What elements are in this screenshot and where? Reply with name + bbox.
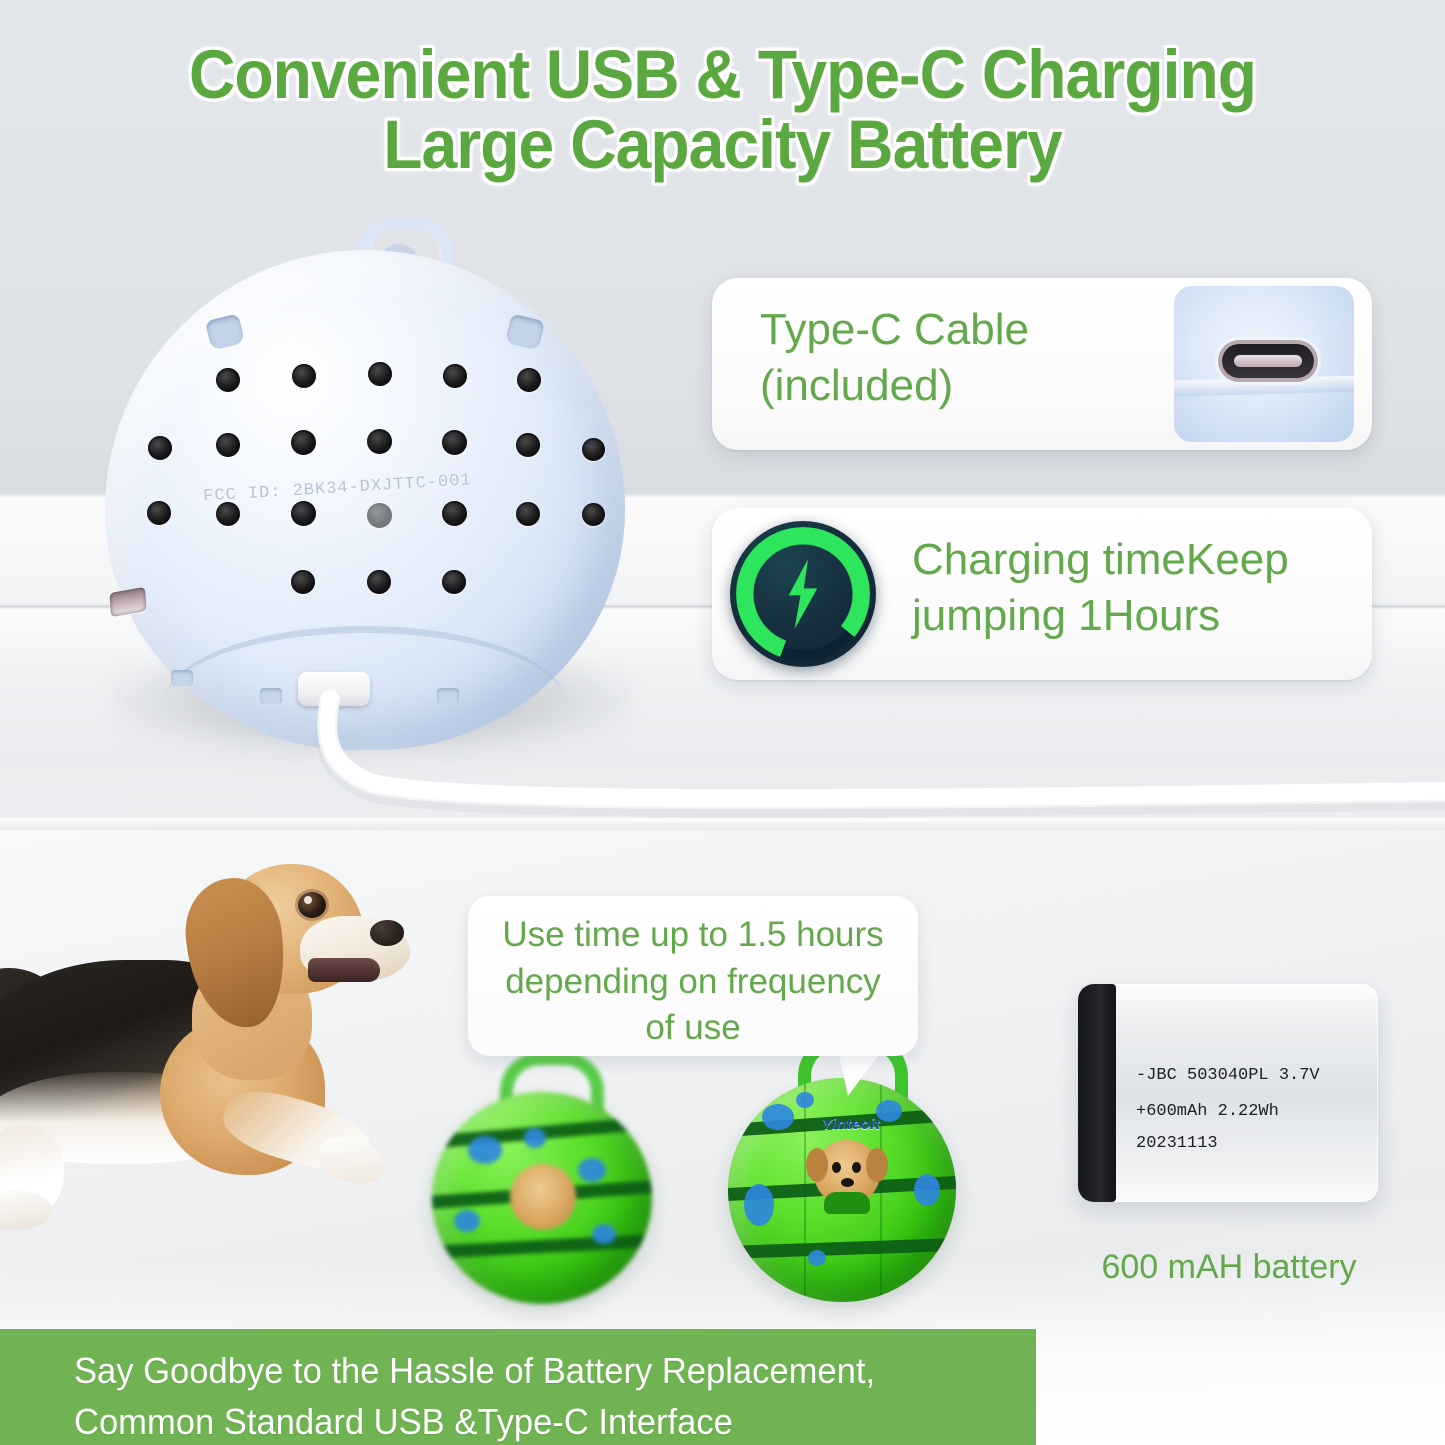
footer-bar: Say Goodbye to the Hassle of Battery Rep… — [0, 1329, 1036, 1445]
vent-hole — [443, 364, 467, 388]
toy-paw-spot — [796, 1092, 814, 1108]
vent-hole — [216, 433, 240, 457]
vent-hole — [216, 368, 240, 392]
foot-notch — [171, 670, 193, 686]
beagle-dog-photo — [0, 840, 440, 1260]
battery-caption: 600 mAH battery — [1038, 1248, 1420, 1287]
toy-ball-right: Yinteoit — [728, 1078, 956, 1302]
foot-notch — [260, 688, 282, 704]
toy-dog-decal — [814, 1140, 880, 1206]
dog-nose — [370, 920, 404, 946]
card-charging-label: Charging timeKeep jumping 1Hours — [912, 532, 1342, 645]
vent-hole — [442, 501, 467, 526]
vent-hole — [442, 570, 466, 594]
toy-brand-label: Yinteoit — [822, 1116, 880, 1133]
vent-hole — [291, 430, 316, 455]
battery-print-line-1: -JBC 503040PL 3.7V — [1136, 1060, 1366, 1092]
toy-ball-left — [432, 1092, 652, 1304]
decal-dog-nose — [841, 1178, 854, 1187]
usb-c-port-icon — [1222, 344, 1314, 378]
card-charging-time[interactable]: Charging timeKeep jumping 1Hours — [712, 508, 1372, 680]
decal-dog-eye — [852, 1162, 861, 1173]
page-title: Convenient USB & Type-C Charging Large C… — [51, 40, 1395, 181]
toy-paw-spot — [592, 1224, 616, 1244]
vent-hole — [291, 570, 315, 594]
battery-photo: -JBC 503040PL 3.7V +600mAh 2.22Wh 202311… — [1078, 984, 1378, 1202]
top-panel: Convenient USB & Type-C Charging Large C… — [0, 0, 1445, 822]
infographic-page: Convenient USB & Type-C Charging Large C… — [0, 0, 1445, 1445]
toy-dog-decal — [510, 1164, 576, 1230]
toy-paw-spot — [744, 1184, 774, 1226]
decal-dog-ear — [866, 1148, 888, 1182]
usb-c-port-photo — [1174, 286, 1354, 442]
foot-notch — [437, 688, 459, 704]
decal-dog-body — [824, 1192, 870, 1214]
dog-mouth — [308, 958, 380, 982]
decal-dog-eye — [832, 1162, 841, 1173]
shell-seam-line — [1174, 375, 1354, 396]
usage-time-bubble[interactable]: Use time up to 1.5 hours depending on fr… — [468, 896, 918, 1056]
battery-print-line-2: +600mAh 2.22Wh 20231113 — [1136, 1096, 1366, 1161]
vent-hole — [291, 501, 316, 526]
vent-hole — [148, 436, 172, 460]
usage-time-label: Use time up to 1.5 hours depending on fr… — [490, 912, 896, 1052]
panel-divider — [0, 818, 1445, 830]
vent-hole — [147, 501, 171, 525]
vent-hole — [582, 503, 605, 526]
toy-paw-spot — [914, 1174, 940, 1206]
decal-dog-ear — [806, 1148, 828, 1182]
toy-paw-spot — [524, 1128, 546, 1148]
vent-hole — [582, 438, 605, 461]
vent-hole — [367, 570, 391, 594]
toy-paw-spot — [468, 1136, 502, 1164]
toy-paw-spot — [454, 1210, 480, 1232]
vent-hole — [292, 364, 316, 388]
cable-plug — [298, 672, 370, 706]
vent-hole — [367, 503, 392, 528]
vent-hole — [367, 429, 392, 454]
toy-paw-spot — [578, 1158, 606, 1182]
vent-hole — [516, 433, 540, 457]
vent-hole — [368, 362, 392, 386]
device-ball: FCC ID: 2BK34-DXJTTC-001 — [85, 218, 645, 738]
card-type-c-label: Type-C Cable (included) — [760, 302, 1140, 415]
battery-terminal-strip — [1078, 984, 1116, 1202]
card-type-c-cable[interactable]: Type-C Cable (included) — [712, 278, 1372, 450]
footer-text: Say Goodbye to the Hassle of Battery Rep… — [74, 1345, 967, 1445]
vent-hole — [442, 430, 467, 455]
toy-paw-spot — [808, 1250, 826, 1266]
toy-stripe — [728, 1237, 956, 1260]
vent-hole — [517, 368, 541, 392]
dog-front-paw — [314, 1132, 390, 1189]
toy-paw-spot — [762, 1104, 794, 1130]
vent-hole — [516, 502, 540, 526]
charging-icon — [730, 521, 876, 667]
dog-eye — [298, 892, 326, 918]
toy-stripe — [432, 1233, 652, 1261]
